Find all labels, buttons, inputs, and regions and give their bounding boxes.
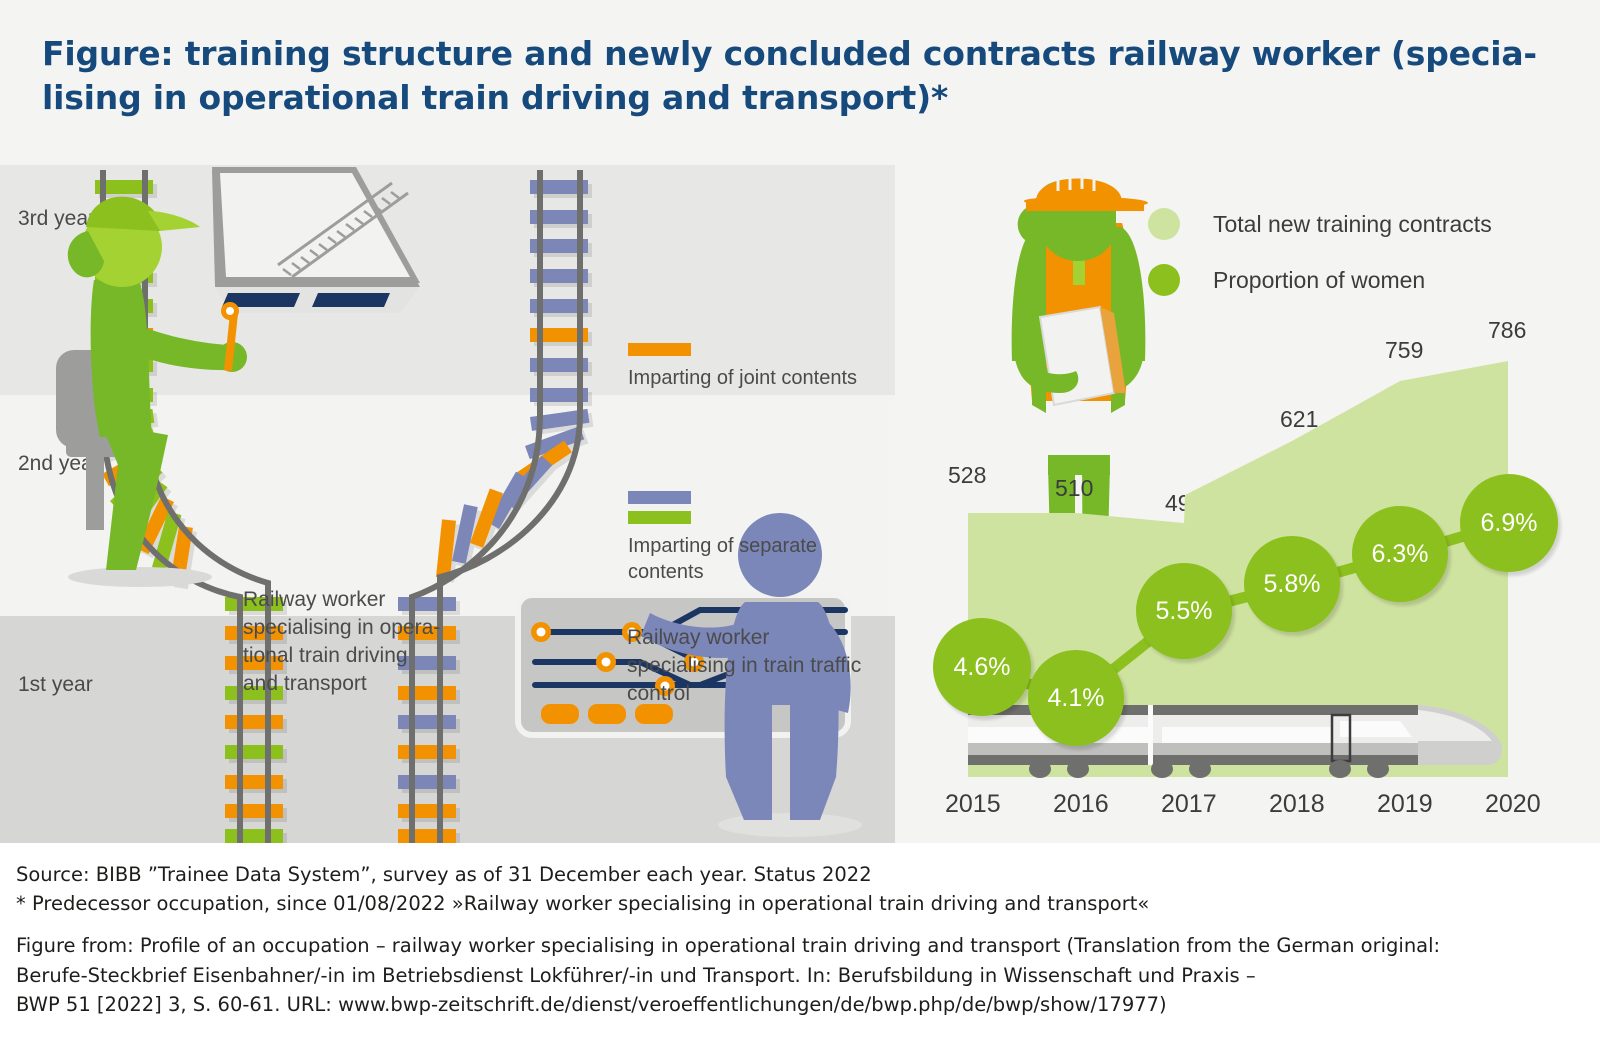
bubble-2020: 6.9% [1460, 474, 1558, 572]
legend-label-separate: Imparting of separate contents [628, 533, 883, 585]
student-at-laptop-illustration [56, 165, 420, 587]
right-track-sleepers [398, 180, 589, 843]
title-line-1: Figure: training structure and newly con… [42, 34, 1537, 73]
citation-line-1: Figure from: Profile of an occupation – … [16, 931, 1586, 961]
legend-item-separate-contents: Imparting of separate contents [628, 491, 883, 585]
citation-line-3: BWP 51 [2022] 3, S. 60-61. URL: www.bwp-… [16, 990, 1586, 1020]
x-axis-label-2017: 2017 [1161, 790, 1217, 819]
legend-label-joint: Imparting of joint contents [628, 365, 883, 391]
x-axis-label-2015: 2015 [945, 790, 1001, 819]
x-axis-label-2016: 2016 [1053, 790, 1109, 819]
legend-swatch-separate-green [628, 511, 691, 524]
legend-swatch-separate-blue [628, 491, 691, 504]
page-title: Figure: training structure and newly con… [42, 32, 1542, 120]
bubble-2017: 5.5% [1136, 563, 1232, 659]
source-note: Source: BIBB ”Trainee Data System”, surv… [16, 860, 1576, 919]
source-line-2: * Predecessor occupation, since 01/08/20… [16, 889, 1576, 918]
x-axis-label-2020: 2020 [1485, 790, 1541, 819]
citation-line-2: Berufe-Steckbrief Eisenbahner/-in im Bet… [16, 961, 1586, 991]
citation-note: Figure from: Profile of an occupation – … [16, 931, 1586, 1020]
legend-item-joint-contents: Imparting of joint contents [628, 343, 883, 391]
title-line-2: lising in operational train driving and … [42, 76, 1542, 120]
training-structure-panel: 3rd year 2nd year 1st year [0, 165, 895, 843]
x-axis-label-2018: 2018 [1269, 790, 1325, 819]
bubble-2016: 4.1% [1028, 650, 1124, 746]
footer: Source: BIBB ”Trainee Data System”, surv… [0, 843, 1600, 1045]
bubble-2018: 5.8% [1244, 536, 1340, 632]
right-rail-inner [412, 170, 540, 843]
infographic-page: Figure: training structure and newly con… [0, 0, 1600, 1045]
track-legend: Imparting of joint contents Imparting of… [628, 343, 883, 585]
bubble-2019: 6.3% [1352, 506, 1448, 602]
x-axis-label-2019: 2019 [1377, 790, 1433, 819]
bubble-2015: 4.6% [933, 618, 1031, 716]
source-line-1: Source: BIBB ”Trainee Data System”, surv… [16, 860, 1576, 889]
right-track-label: Railway worker specialising in train tra… [627, 624, 917, 708]
left-track-label: Railway worker specialising in opera- ti… [243, 586, 493, 698]
contracts-chart: Total new training contracts Proportion … [900, 165, 1600, 843]
legend-swatch-joint [628, 343, 691, 356]
